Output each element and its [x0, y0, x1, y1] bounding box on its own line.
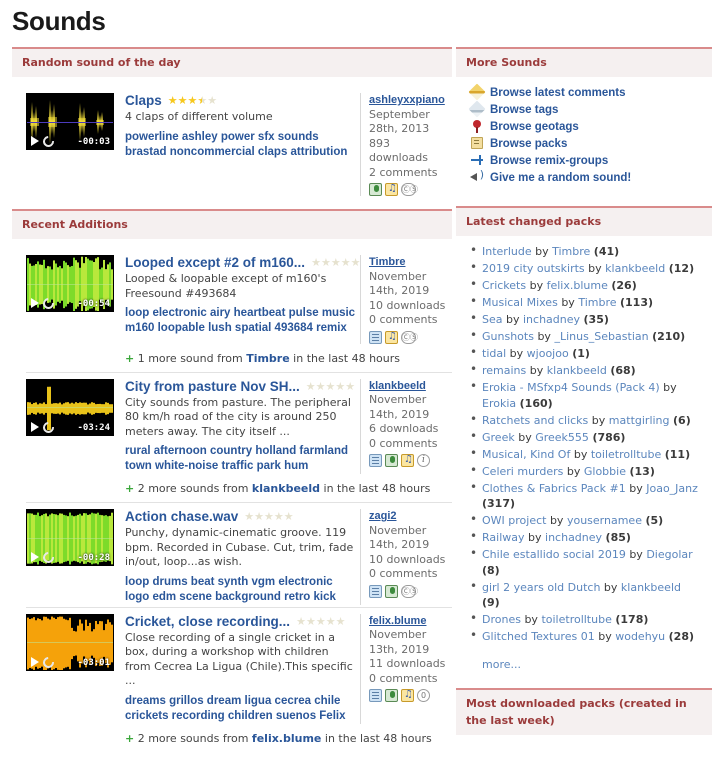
- sound-details: Cricket, close recording...★★★★★Close re…: [114, 614, 356, 724]
- sound-title-link[interactable]: Looped except #2 of m160...: [125, 255, 305, 270]
- by-label: by: [530, 279, 544, 292]
- pack-user-link[interactable]: Timbre: [578, 296, 616, 309]
- sound-tags[interactable]: rural afternoon country holland farmland…: [125, 444, 356, 474]
- star-icon: ★: [284, 510, 294, 523]
- by-label: by: [567, 465, 581, 478]
- pencil-icon: [468, 86, 485, 100]
- link-label[interactable]: Browse packs: [490, 138, 567, 150]
- star-icon: ★: [336, 615, 346, 628]
- more-sounds-link-row[interactable]: Give me a random sound!: [468, 171, 712, 185]
- sound-title-row: Claps ★★★★★: [125, 93, 356, 108]
- rating-stars[interactable]: ★★★★★: [244, 509, 293, 524]
- sound-title-link[interactable]: City from pasture Nov SH...: [125, 379, 300, 394]
- by-label: by: [629, 482, 643, 495]
- rating-stars[interactable]: ★★★★★: [168, 93, 217, 108]
- sound-metadata: TimbreNovember 14th, 201910 downloads0 c…: [360, 255, 452, 344]
- pack-link[interactable]: Interlude: [482, 245, 532, 258]
- by-label: by: [629, 548, 643, 561]
- pack-user-link[interactable]: yousernamee: [567, 514, 642, 527]
- panel-heading: Most downloaded packs (created in the la…: [456, 688, 712, 735]
- pack-list-item: Drones by toiletrolltube (178): [482, 612, 702, 628]
- remix-icon[interactable]: [385, 331, 398, 344]
- star-icon: ★: [316, 380, 326, 393]
- pack-list-item: OWI project by yousernamee (5): [482, 513, 702, 529]
- pack-user-link[interactable]: _Linus_Sebastian: [554, 330, 648, 343]
- link-label[interactable]: Give me a random sound!: [490, 172, 631, 184]
- sound-badges: ⒸⓈ: [369, 585, 452, 598]
- more-from-user: + 2 more sounds from felix.blume in the …: [12, 726, 452, 752]
- duration-label: -00:28: [77, 553, 110, 563]
- duration-label: -00:03: [77, 137, 110, 147]
- remix-icon[interactable]: [401, 454, 414, 467]
- pack-link[interactable]: Gunshots: [482, 330, 534, 343]
- pack-link[interactable]: Celeri murders: [482, 465, 563, 478]
- pack-user-link[interactable]: klankbeeld: [547, 364, 607, 377]
- sound-row: -00:28Action chase.wav★★★★★Punchy, dynam…: [12, 503, 452, 607]
- pack-count: (28): [669, 630, 694, 643]
- more-from-user: + 1 more sound from Timbre in the last 4…: [12, 346, 452, 372]
- star-icon: ★: [311, 256, 321, 269]
- waveform-player[interactable]: -03:01: [26, 614, 114, 671]
- pack-user-link[interactable]: wjoojoo: [527, 347, 569, 360]
- recent-additions-list: -00:54Looped except #2 of m160...★★★★★Lo…: [12, 245, 452, 752]
- pack-user-link[interactable]: Erokia: [482, 397, 516, 410]
- pack-count: (35): [584, 313, 609, 326]
- license-cc-icon[interactable]: ⒸⓈ: [401, 585, 416, 598]
- sound-badges: ⒸⓈ: [369, 183, 452, 196]
- pack-count: (6): [673, 414, 691, 427]
- star-icon: ★: [326, 380, 336, 393]
- pencil-grey-icon: [468, 103, 485, 117]
- pack-link[interactable]: 2019 city outskirts: [482, 262, 585, 275]
- by-label: by: [561, 296, 575, 309]
- pack-count: (210): [652, 330, 685, 343]
- pack-user-link[interactable]: wodehyu: [615, 630, 665, 643]
- pack-link[interactable]: Ratchets and clicks: [482, 414, 588, 427]
- by-label: by: [604, 581, 618, 594]
- sounds-page: Sounds Random sound of the day: [0, 6, 720, 614]
- star-icon: ★: [244, 510, 254, 523]
- sound-title-link[interactable]: Cricket, close recording...: [125, 614, 290, 629]
- pack-count: (41): [594, 245, 619, 258]
- pack-link[interactable]: Crickets: [482, 279, 526, 292]
- upload-date: November 13th, 2019: [369, 628, 452, 657]
- star-icon: ★: [296, 615, 306, 628]
- sound-badges: i: [369, 454, 452, 467]
- play-icon[interactable]: [31, 657, 39, 667]
- by-label: by: [510, 347, 524, 360]
- pack-count: (317): [482, 497, 515, 510]
- page-title: Sounds: [12, 6, 720, 37]
- plus-icon: +: [125, 352, 134, 365]
- waveform-player[interactable]: -03:24: [26, 379, 114, 436]
- pack-list-item: Musical, Kind Of by toiletrolltube (11): [482, 447, 702, 463]
- by-label: by: [598, 630, 612, 643]
- sound-title-row: Looped except #2 of m160...★★★★★: [125, 255, 356, 270]
- pack-link[interactable]: remains: [482, 364, 526, 377]
- sound-title-link[interactable]: Action chase.wav: [125, 509, 238, 524]
- geotag-icon[interactable]: [385, 689, 398, 702]
- pack-user-link[interactable]: inchadney: [523, 313, 580, 326]
- pack-user-link[interactable]: Diegolar: [646, 548, 692, 561]
- duration-label: -00:54: [77, 299, 110, 309]
- download-count: 10 downloads: [369, 553, 452, 568]
- pack-count: (13): [629, 465, 654, 478]
- star-icon: ★: [351, 256, 361, 269]
- by-label: by: [535, 245, 549, 258]
- star-icon: ★: [306, 615, 316, 628]
- sound-details: Action chase.wav★★★★★Punchy, dynamic-cin…: [114, 509, 356, 605]
- star-icon: ★: [341, 256, 351, 269]
- pack-count: (5): [645, 514, 663, 527]
- pack-count: (11): [665, 448, 690, 461]
- play-icon[interactable]: [31, 552, 39, 562]
- more-sounds-link-row[interactable]: Browse packs: [468, 137, 712, 151]
- sound-row: -00:03 Claps ★★★★★ 4 claps of different …: [12, 83, 452, 198]
- panel-body: -00:54Looped except #2 of m160...★★★★★Lo…: [12, 239, 452, 754]
- star-icon: ★: [264, 510, 274, 523]
- sound-metadata: ashleyxxpiano September 28th, 2013 893 d…: [360, 93, 452, 196]
- pack-count: (8): [482, 564, 500, 577]
- sound-tags[interactable]: powerline ashley power sfx sounds brasta…: [125, 130, 356, 160]
- sound-metadata: felix.blumeNovember 13th, 201911 downloa…: [360, 614, 452, 724]
- pack-user-link[interactable]: Timbre: [552, 245, 590, 258]
- remix-icon[interactable]: [385, 183, 398, 196]
- uploader-link[interactable]: Timbre: [246, 352, 290, 365]
- pack-list-item: Erokia - MSfxp4 Sounds (Pack 4) by Eroki…: [482, 380, 702, 411]
- playhead-line: [27, 122, 113, 123]
- remix-icon[interactable]: [401, 689, 414, 702]
- link-label[interactable]: Browse remix-groups: [490, 155, 608, 167]
- panel-heading: Latest changed packs: [456, 206, 712, 236]
- sound-description: Close recording of a single cricket in a…: [125, 631, 356, 689]
- star-icon: ★: [188, 94, 198, 107]
- rating-stars[interactable]: ★★★★★: [306, 379, 355, 394]
- pack-icon[interactable]: [369, 689, 382, 702]
- pack-list-item: Musical Mixes by Timbre (113): [482, 295, 702, 311]
- pack-list-item: 2019 city outskirts by klankbeeld (12): [482, 261, 702, 277]
- geotag-icon[interactable]: [385, 585, 398, 598]
- more-sounds-link-row[interactable]: Browse latest comments: [468, 86, 712, 100]
- speaker-icon: [468, 171, 485, 185]
- pack-icon[interactable]: [369, 454, 382, 467]
- star-icon: ★: [274, 510, 284, 523]
- panel-heading: Random sound of the day: [12, 47, 452, 77]
- comment-count: 0 comments: [369, 313, 452, 328]
- panel-latest-changed-packs: Latest changed packs Interlude by Timbre…: [456, 206, 712, 679]
- geotag-icon[interactable]: [385, 454, 398, 467]
- duration-label: -03:24: [77, 423, 110, 433]
- pack-icon[interactable]: [369, 585, 382, 598]
- uploader-link[interactable]: zagi2: [369, 510, 397, 522]
- uploader-link[interactable]: felix.blume: [369, 615, 426, 627]
- star-icon: ★: [254, 510, 264, 523]
- upload-date: November 14th, 2019: [369, 270, 452, 299]
- pack-link[interactable]: Musical Mixes: [482, 296, 558, 309]
- info-icon[interactable]: i: [417, 454, 430, 467]
- pack-list-item: Glitched Textures 01 by wodehyu (28): [482, 629, 702, 645]
- download-count: 10 downloads: [369, 299, 452, 314]
- pack-list-item: remains by klankbeeld (68): [482, 363, 702, 379]
- playhead-line: [27, 284, 113, 285]
- star-icon: ★: [168, 94, 178, 107]
- pack-list-item: Chile estallido social 2019 by Diegolar …: [482, 547, 702, 578]
- upload-date: September 28th, 2013: [369, 108, 452, 137]
- pack-list-item: tidal by wjoojoo (1): [482, 346, 702, 362]
- duration-label: -03:01: [77, 658, 110, 668]
- comment-count: 0 comments: [369, 567, 452, 582]
- download-count: 6 downloads: [369, 422, 452, 437]
- waveform-player[interactable]: -00:28: [26, 509, 114, 566]
- star-icon: ★: [321, 256, 331, 269]
- more-sounds-link-row[interactable]: Browse remix-groups: [468, 154, 712, 168]
- sound-details: Claps ★★★★★ 4 claps of different volume …: [114, 93, 356, 196]
- pack-count: (12): [669, 262, 694, 275]
- pack-link[interactable]: Glitched Textures 01: [482, 630, 595, 643]
- pack-user-link[interactable]: Joao_Janz: [646, 482, 698, 495]
- playhead-line: [27, 538, 113, 539]
- playhead-line: [27, 642, 113, 643]
- sound-title-link[interactable]: Claps: [125, 93, 162, 108]
- star-icon: ★: [306, 380, 316, 393]
- license-cc-icon[interactable]: ⒸⓈ: [401, 331, 416, 344]
- pack-link[interactable]: tidal: [482, 347, 506, 360]
- plus-icon: +: [125, 732, 134, 745]
- panel-heading: More Sounds: [456, 47, 712, 77]
- pack-link[interactable]: Chile estallido social 2019: [482, 548, 626, 561]
- pack-count: (68): [610, 364, 635, 377]
- pack-user-link[interactable]: toiletrolltube: [541, 613, 611, 626]
- panel-random-sound-of-the-day: Random sound of the day: [12, 47, 452, 200]
- more-from-user: + 2 more sounds from klankbeeld in the l…: [12, 476, 452, 502]
- page-columns: Random sound of the day: [0, 47, 720, 763]
- sound-tags[interactable]: dreams grillos dream ligua cecrea chile …: [125, 694, 356, 724]
- comment-count: 0 comments: [369, 437, 452, 452]
- license-cc0-icon[interactable]: 0: [417, 689, 430, 702]
- pack-count: (786): [592, 431, 625, 444]
- pack-link[interactable]: Sea: [482, 313, 503, 326]
- by-label: by: [592, 414, 606, 427]
- pack-count: (113): [620, 296, 653, 309]
- by-label: by: [663, 381, 677, 394]
- playhead-line: [27, 407, 113, 408]
- by-label: by: [524, 613, 538, 626]
- pack-link[interactable]: OWI project: [482, 514, 546, 527]
- sound-title-row: City from pasture Nov SH...★★★★★: [125, 379, 356, 394]
- remix-group-icon: [468, 154, 485, 168]
- uploader-link[interactable]: ashleyxxpiano: [369, 94, 445, 106]
- pack-count: (85): [606, 531, 631, 544]
- pack-link[interactable]: Erokia - MSfxp4 Sounds (Pack 4): [482, 381, 660, 394]
- sound-description: Looped & loopable except of m160's Frees…: [125, 272, 356, 301]
- more-sounds-links: Browse latest commentsBrowse tagsBrowse …: [456, 77, 712, 197]
- star-icon: ★: [331, 256, 341, 269]
- pack-count: (26): [611, 279, 636, 292]
- sound-badges: 0: [369, 689, 452, 702]
- play-icon[interactable]: [31, 422, 39, 432]
- license-cc-icon[interactable]: ⒸⓈ: [401, 183, 416, 196]
- pack-link[interactable]: Drones: [482, 613, 521, 626]
- pack-count: (1): [572, 347, 590, 360]
- pack-list-item: Crickets by felix.blume (26): [482, 278, 702, 294]
- sound-description: Punchy, dynamic-cinematic groove. 119 bp…: [125, 526, 356, 570]
- rating-stars[interactable]: ★★★★★: [311, 255, 360, 270]
- sound-tags[interactable]: loop electronic airy heartbeat pulse mus…: [125, 306, 356, 336]
- sound-description: 4 claps of different volume: [125, 110, 356, 125]
- sound-details: Looped except #2 of m160...★★★★★Looped &…: [114, 255, 356, 344]
- sound-metadata: zagi2November 14th, 201910 downloads0 co…: [360, 509, 452, 605]
- sound-details: City from pasture Nov SH...★★★★★City sou…: [114, 379, 356, 475]
- pack-list-item: Clothes & Fabrics Pack #1 by Joao_Janz (…: [482, 481, 702, 512]
- pack-link[interactable]: Clothes & Fabrics Pack #1: [482, 482, 626, 495]
- sound-title-row: Action chase.wav★★★★★: [125, 509, 356, 524]
- by-label: by: [506, 313, 520, 326]
- star-icon: ★: [207, 94, 217, 107]
- star-icon: ★: [178, 94, 188, 107]
- by-label: by: [574, 448, 588, 461]
- pack-user-link[interactable]: Greek555: [535, 431, 589, 444]
- panel-body: -00:03 Claps ★★★★★ 4 claps of different …: [12, 77, 452, 200]
- pack-user-link[interactable]: klankbeeld: [605, 262, 665, 275]
- plus-icon: +: [125, 482, 134, 495]
- pack-user-link[interactable]: inchadney: [545, 531, 602, 544]
- by-label: by: [518, 431, 532, 444]
- sound-description: City sounds from pasture. The peripheral…: [125, 396, 356, 440]
- uploader-link[interactable]: Timbre: [369, 256, 405, 268]
- pack-link[interactable]: Railway: [482, 531, 525, 544]
- rating-stars[interactable]: ★★★★★: [296, 614, 345, 629]
- panel-more-sounds: More Sounds Browse latest commentsBrowse…: [456, 47, 712, 197]
- pack-count: (178): [615, 613, 648, 626]
- more-packs-row: more...: [456, 652, 712, 679]
- pack-user-link[interactable]: mattgirling: [609, 414, 670, 427]
- geotag-icon[interactable]: [369, 183, 382, 196]
- download-count: 11 downloads: [369, 657, 452, 672]
- folder-icon: [468, 137, 485, 151]
- pack-list-item: Railway by inchadney (85): [482, 530, 702, 546]
- pack-user-link[interactable]: felix.blume: [547, 279, 608, 292]
- star-icon: ★: [326, 615, 336, 628]
- right-column: More Sounds Browse latest commentsBrowse…: [456, 47, 712, 744]
- uploader-link[interactable]: klankbeeld: [252, 482, 320, 495]
- upload-date: November 14th, 2019: [369, 524, 452, 553]
- panel-heading: Recent Additions: [12, 209, 452, 239]
- comment-count: 0 comments: [369, 672, 452, 687]
- waveform-player[interactable]: -00:54: [26, 255, 114, 312]
- pack-user-link[interactable]: toiletrolltube: [591, 448, 661, 461]
- more-link[interactable]: more...: [482, 658, 521, 671]
- pack-list-item: Interlude by Timbre (41): [482, 244, 702, 260]
- play-icon[interactable]: [31, 298, 39, 308]
- packs-list: Interlude by Timbre (41)2019 city outski…: [456, 236, 712, 652]
- more-sounds-link-row[interactable]: Browse geotags: [468, 120, 712, 134]
- link-label[interactable]: Browse latest comments: [490, 87, 626, 99]
- download-count: 893 downloads: [369, 137, 452, 166]
- waveform-player[interactable]: -00:03: [26, 93, 114, 150]
- pack-list-item: Gunshots by _Linus_Sebastian (210): [482, 329, 702, 345]
- by-label: by: [537, 330, 551, 343]
- star-icon: ★: [316, 615, 326, 628]
- by-label: by: [550, 514, 564, 527]
- uploader-link[interactable]: klankbeeld: [369, 380, 426, 392]
- pack-link[interactable]: Musical, Kind Of: [482, 448, 570, 461]
- pack-list-item: Sea by inchadney (35): [482, 312, 702, 328]
- play-icon[interactable]: [31, 136, 39, 146]
- sound-row: -03:24City from pasture Nov SH...★★★★★Ci…: [12, 373, 452, 477]
- by-label: by: [588, 262, 602, 275]
- sound-row: -00:54Looped except #2 of m160...★★★★★Lo…: [12, 245, 452, 346]
- map-pin-icon: [468, 120, 485, 134]
- upload-date: November 14th, 2019: [369, 393, 452, 422]
- sound-title-row: Cricket, close recording...★★★★★: [125, 614, 356, 629]
- comment-count: 2 comments: [369, 166, 452, 181]
- pack-count: (160): [520, 397, 553, 410]
- link-label[interactable]: Browse tags: [490, 104, 558, 116]
- by-label: by: [530, 364, 544, 377]
- pack-list-item: Greek by Greek555 (786): [482, 430, 702, 446]
- pack-list-item: girl 2 years old Dutch by klankbeeld (9): [482, 580, 702, 611]
- more-sounds-link-row[interactable]: Browse tags: [468, 103, 712, 117]
- pack-count: (9): [482, 596, 500, 609]
- link-label[interactable]: Browse geotags: [490, 121, 579, 133]
- pack-link[interactable]: Greek: [482, 431, 515, 444]
- panel-recent-additions: Recent Additions -00:54Looped except #2 …: [12, 209, 452, 754]
- pack-list-item: Celeri murders by Globbie (13): [482, 464, 702, 480]
- star-icon: ★: [335, 380, 345, 393]
- pack-user-link[interactable]: klankbeeld: [621, 581, 681, 594]
- sound-row: -03:01Cricket, close recording...★★★★★Cl…: [12, 608, 452, 726]
- pack-icon[interactable]: [369, 331, 382, 344]
- by-label: by: [528, 531, 542, 544]
- sound-tags[interactable]: loop drums beat synth vgm electronic log…: [125, 575, 356, 605]
- star-icon: ★: [197, 94, 207, 107]
- left-column: Random sound of the day: [0, 47, 452, 763]
- star-icon: ★: [345, 380, 355, 393]
- pack-link[interactable]: girl 2 years old Dutch: [482, 581, 600, 594]
- panel-most-downloaded-packs: Most downloaded packs (created in the la…: [456, 688, 712, 735]
- uploader-link[interactable]: felix.blume: [252, 732, 321, 745]
- sound-badges: ⒸⓈ: [369, 331, 452, 344]
- sound-metadata: klankbeeldNovember 14th, 20196 downloads…: [360, 379, 452, 475]
- pack-list-item: Ratchets and clicks by mattgirling (6): [482, 413, 702, 429]
- pack-user-link[interactable]: Globbie: [584, 465, 626, 478]
